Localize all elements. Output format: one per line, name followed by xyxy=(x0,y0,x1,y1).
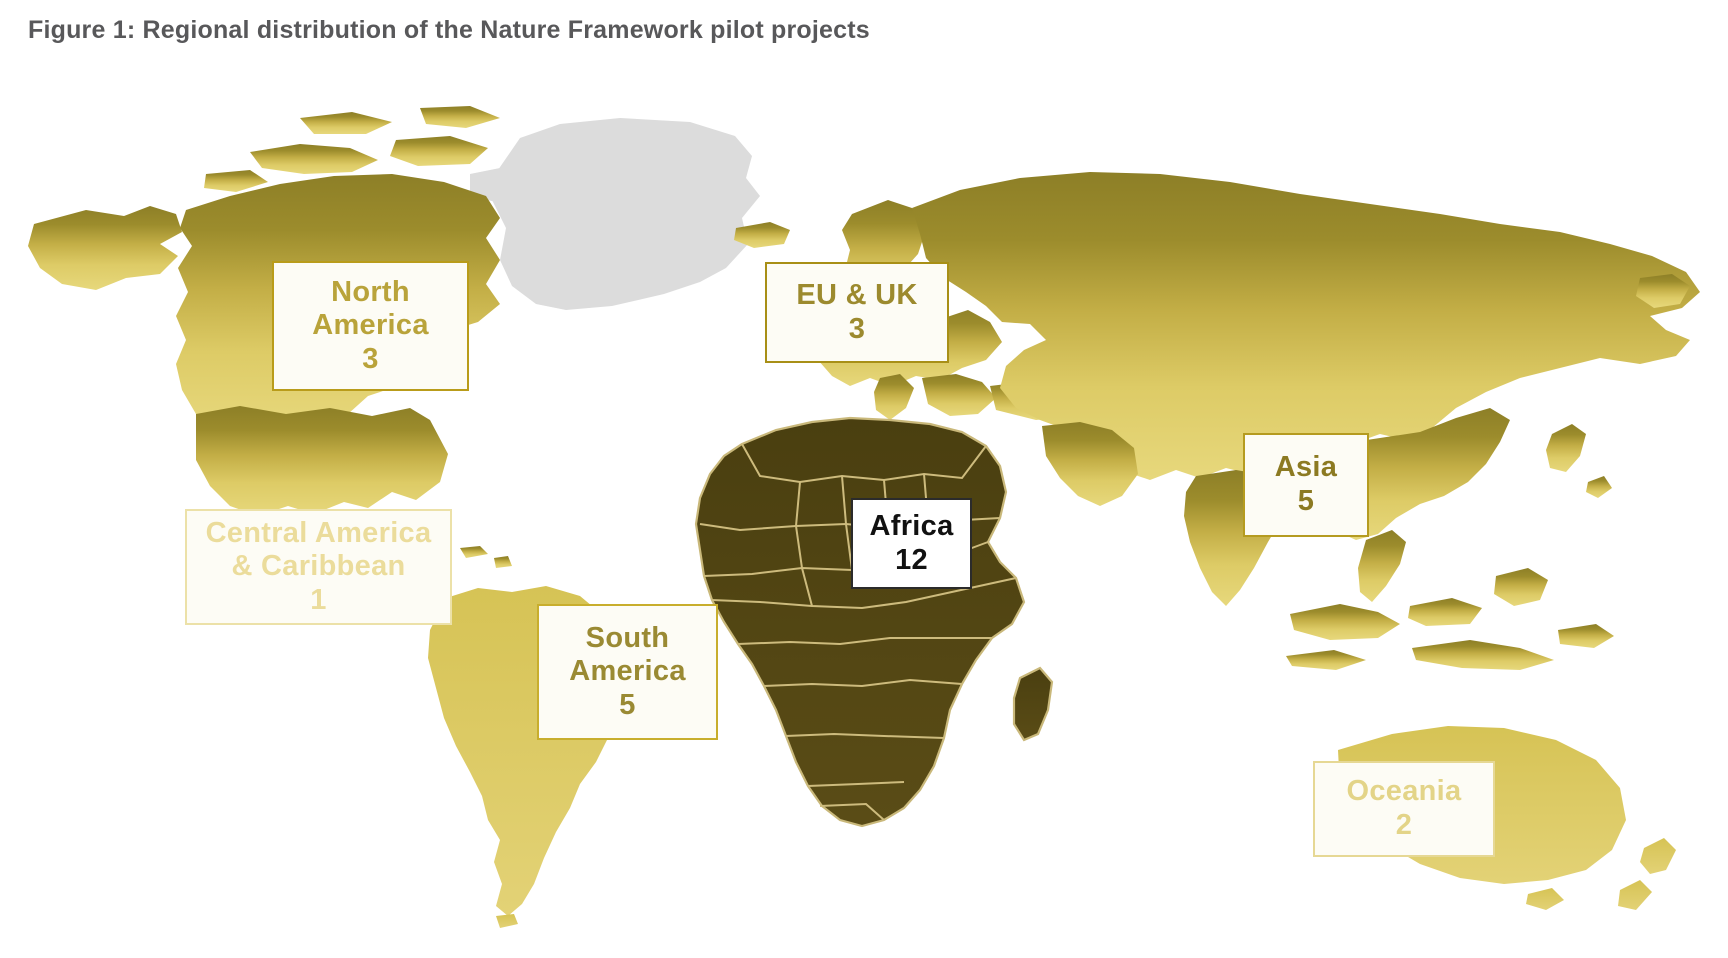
region-africa-highlight xyxy=(696,418,1052,826)
callout-central-america-caribbean[interactable]: Central America & Caribbean 1 xyxy=(185,509,452,625)
callout-asia[interactable]: Asia 5 xyxy=(1243,433,1369,537)
callout-africa[interactable]: Africa 12 xyxy=(851,498,972,589)
callout-value: 5 xyxy=(619,689,635,723)
callout-label: Asia xyxy=(1275,451,1337,485)
callout-value: 3 xyxy=(849,313,865,347)
callout-value: 1 xyxy=(310,584,326,618)
callout-label-line2: & Caribbean xyxy=(231,550,405,584)
callout-value: 2 xyxy=(1396,809,1412,843)
callout-oceania[interactable]: Oceania 2 xyxy=(1313,761,1495,857)
callout-label: North America xyxy=(274,276,467,343)
callout-label-line2: America xyxy=(569,655,686,689)
region-asia xyxy=(912,172,1700,670)
callout-label-line1: Central America xyxy=(206,517,432,551)
callout-south-america[interactable]: South America 5 xyxy=(537,604,718,740)
callout-value: 5 xyxy=(1298,485,1314,519)
callout-label: Africa xyxy=(870,510,954,544)
region-greenland xyxy=(470,118,760,310)
callout-value: 3 xyxy=(362,343,378,377)
callout-value: 12 xyxy=(895,544,928,578)
world-map: North America 3 EU & UK 3 Asia 5 Africa … xyxy=(0,78,1728,958)
callout-label: Oceania xyxy=(1347,775,1462,809)
page-title: Figure 1: Regional distribution of the N… xyxy=(28,16,870,45)
callout-label: EU & UK xyxy=(796,279,917,313)
callout-north-america[interactable]: North America 3 xyxy=(272,261,469,391)
callout-eu-uk[interactable]: EU & UK 3 xyxy=(765,262,949,363)
callout-label-line1: South xyxy=(586,622,670,656)
